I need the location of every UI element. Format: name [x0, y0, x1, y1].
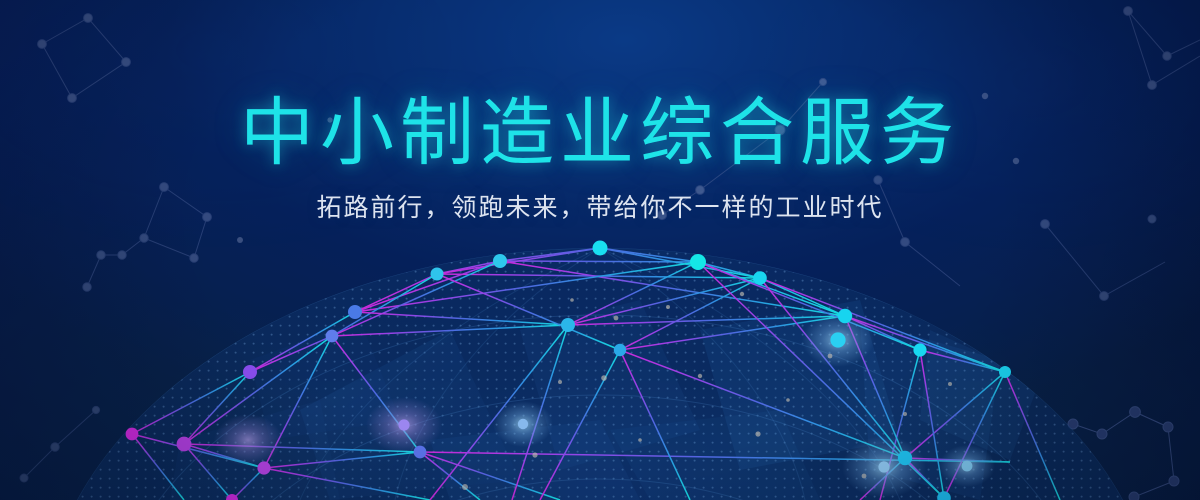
banner-hero: 中小制造业综合服务 拓路前行，领跑未来，带给你不一样的工业时代 [0, 0, 1200, 500]
background-vignette [0, 0, 1200, 500]
